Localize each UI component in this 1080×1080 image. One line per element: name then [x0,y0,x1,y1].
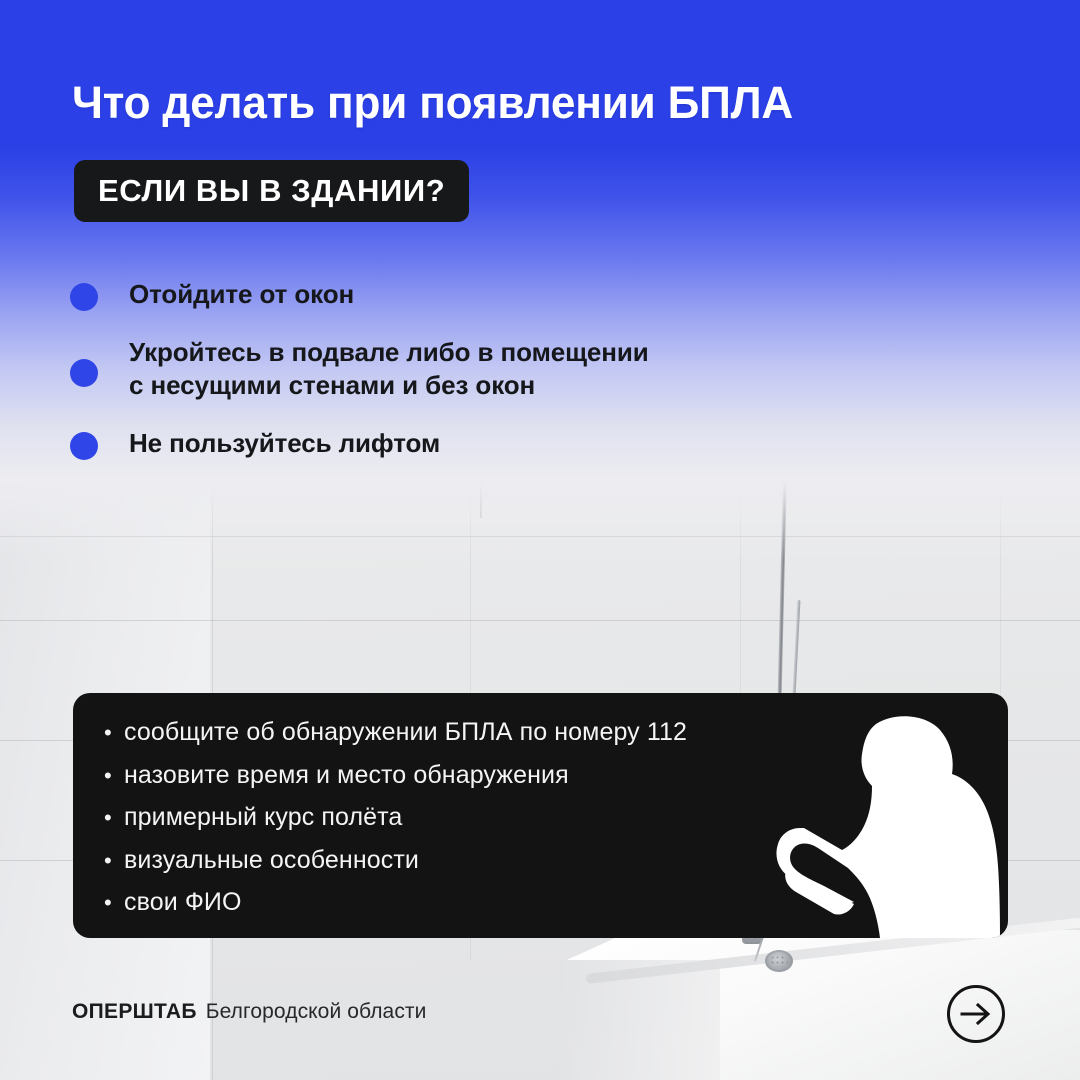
bullet-marker-icon: • [104,807,124,829]
bullet-marker-icon: • [104,850,124,872]
instruction-text: Не пользуйтесь лифтом [129,427,440,461]
list-item: • назовите время и место обнаружения [104,758,804,794]
list-item: Отойдите от окон [70,278,810,312]
report-item-text: визуальные особенности [124,843,419,879]
list-item: • сообщите об обнаружении БПЛА по номеру… [104,715,804,751]
report-item-text: примерный курс полёта [124,800,402,836]
next-slide-button[interactable] [947,985,1005,1043]
poster-canvas: Что делать при появлении БПЛА ЕСЛИ ВЫ В … [0,0,1080,1080]
instruction-text: Укройтесь в подвале либо в помещении с н… [129,336,649,403]
report-item-text: сообщите об обнаружении БПЛА по номеру 1… [124,715,687,751]
subtitle-badge: ЕСЛИ ВЫ В ЗДАНИИ? [74,160,469,222]
bullet-marker-icon: • [104,892,124,914]
bathtub-side-panel [560,960,720,1080]
bullet-dot-icon [70,359,98,387]
instruction-text: Отойдите от окон [129,278,354,312]
instruction-list: Отойдите от окон Укройтесь в подвале либ… [70,278,810,460]
list-item: • примерный курс полёта [104,800,804,836]
report-instructions-panel: • сообщите об обнаружении БПЛА по номеру… [73,693,1008,938]
list-item: Укройтесь в подвале либо в помещении с н… [70,336,810,403]
bullet-marker-icon: • [104,765,124,787]
bullet-dot-icon [70,432,98,460]
bathtub-drain [765,950,793,972]
tile-grout-line [0,620,1080,621]
arrow-right-icon [960,1003,992,1025]
report-item-text: свои ФИО [124,885,242,921]
list-item: Не пользуйтесь лифтом [70,427,810,461]
person-with-phone-illustration [758,716,1008,938]
list-item: • визуальные особенности [104,843,804,879]
org-region: Белгородской области [206,1000,427,1024]
bullet-dot-icon [70,283,98,311]
page-title: Что делать при появлении БПЛА [72,78,954,128]
report-list: • сообщите об обнаружении БПЛА по номеру… [104,715,804,921]
subtitle-badge-label: ЕСЛИ ВЫ В ЗДАНИИ? [98,173,445,209]
list-item: • свои ФИО [104,885,804,921]
bullet-marker-icon: • [104,722,124,744]
org-name: ОПЕРШТАБ [72,1000,197,1024]
footer-branding: ОПЕРШТАБ Белгородской области [72,1000,426,1024]
report-item-text: назовите время и место обнаружения [124,758,569,794]
